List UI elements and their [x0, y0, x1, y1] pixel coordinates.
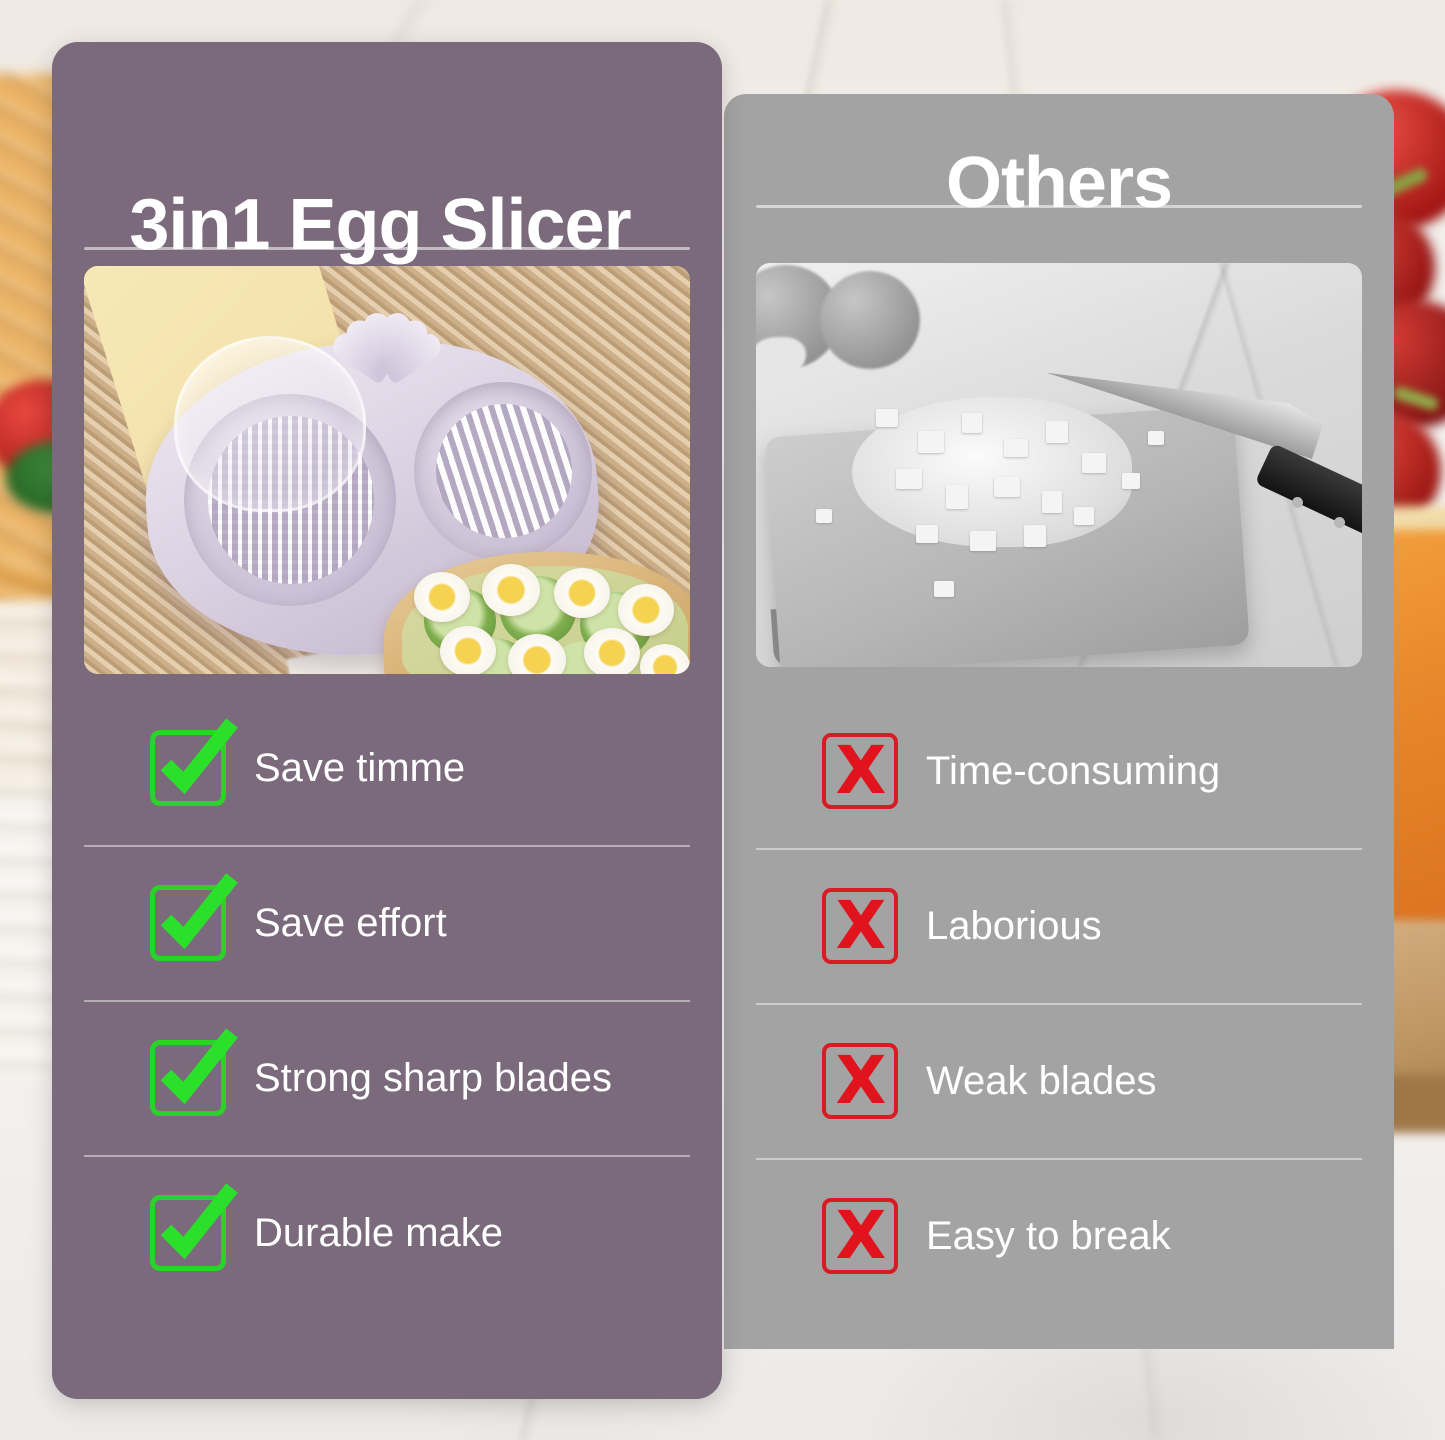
others-feature-list: X Time-consuming X Laborious X [756, 693, 1362, 1313]
cross-icon: X [822, 1198, 898, 1274]
egg-shape [820, 271, 920, 369]
list-item: X Laborious [756, 848, 1362, 1003]
check-icon [150, 1195, 226, 1271]
others-panel: Others [724, 94, 1394, 1349]
list-item: Durable make [84, 1155, 690, 1310]
product-panel: 3in1 Egg Slicer [52, 42, 722, 1399]
product-feature-list: Save timme Save effort [84, 690, 690, 1310]
list-item-label: Laborious [926, 906, 1102, 946]
product-title-divider [84, 247, 690, 250]
list-item-label: Weak blades [926, 1061, 1157, 1101]
list-item-label: Strong sharp blades [254, 1058, 612, 1098]
list-item-label: Durable make [254, 1213, 503, 1253]
list-item-label: Save effort [254, 903, 447, 943]
list-item-label: Save timme [254, 748, 465, 788]
list-item-label: Time-consuming [926, 751, 1220, 791]
list-item: X Easy to break [756, 1158, 1362, 1313]
list-item: X Weak blades [756, 1003, 1362, 1158]
list-item: Strong sharp blades [84, 1000, 690, 1155]
product-panel-title: 3in1 Egg Slicer [52, 189, 722, 261]
check-icon [150, 1040, 226, 1116]
product-photo [84, 266, 690, 674]
check-icon [150, 885, 226, 961]
cross-icon: X [822, 888, 898, 964]
comparison-infographic: Others [0, 0, 1445, 1440]
wedger-petals [320, 274, 454, 382]
check-icon [150, 730, 226, 806]
list-item: Save timme [84, 690, 690, 845]
list-item: Save effort [84, 845, 690, 1000]
others-photo [756, 263, 1362, 667]
others-panel-title: Others [724, 147, 1394, 219]
cross-icon: X [822, 1043, 898, 1119]
others-title-divider [756, 205, 1362, 208]
list-item-label: Easy to break [926, 1216, 1171, 1256]
cross-icon: X [822, 733, 898, 809]
list-item: X Time-consuming [756, 693, 1362, 848]
slicing-wires [436, 404, 572, 538]
